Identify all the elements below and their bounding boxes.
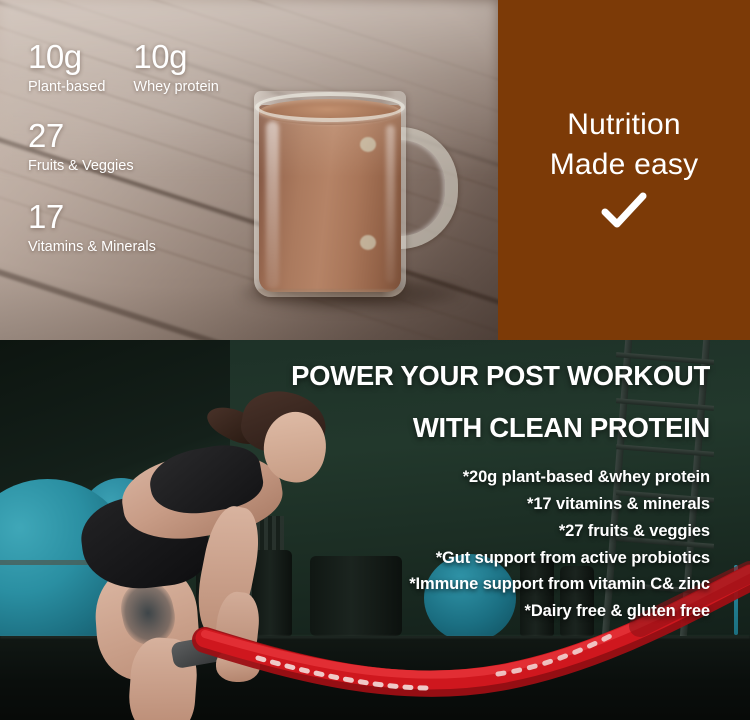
panel-title-line1: Nutrition xyxy=(567,105,681,145)
headline-line1: POWER YOUR POST WORKOUT xyxy=(0,360,710,392)
check-icon xyxy=(601,192,647,235)
nutrition-stats: 10g Plant-based 10g Whey protein 27 Frui… xyxy=(28,40,308,256)
stat-value: 10g xyxy=(133,40,218,75)
stat-item: 17 Vitamins & Minerals xyxy=(28,200,308,257)
stat-label: Vitamins & Minerals xyxy=(28,238,308,257)
stat-value: 10g xyxy=(28,40,105,75)
stat-item: 10g Plant-based xyxy=(28,40,105,97)
headline-line2: WITH CLEAN PROTEIN xyxy=(0,412,710,444)
benefit-item: *Gut support from active probiotics xyxy=(0,545,710,572)
stat-label: Fruits & Veggies xyxy=(28,157,308,176)
stat-label: Plant-based xyxy=(28,78,105,97)
nutrition-panel: Nutrition Made easy xyxy=(498,0,750,340)
benefit-item: *17 vitamins & minerals xyxy=(0,491,710,518)
top-section: 10g Plant-based 10g Whey protein 27 Frui… xyxy=(0,0,750,340)
bottom-copy: POWER YOUR POST WORKOUT WITH CLEAN PROTE… xyxy=(0,340,750,720)
benefit-item: *Dairy free & gluten free xyxy=(0,598,710,625)
stat-value: 17 xyxy=(28,200,308,235)
stat-value: 27 xyxy=(28,119,308,154)
stat-label: Whey protein xyxy=(133,78,218,97)
stat-item: 27 Fruits & Veggies xyxy=(28,119,308,176)
benefit-list: *20g plant-based &whey protein *17 vitam… xyxy=(0,464,710,624)
panel-title-line2: Made easy xyxy=(550,145,699,185)
benefit-item: *Immune support from vitamin C& zinc xyxy=(0,571,710,598)
bottom-section: POWER YOUR POST WORKOUT WITH CLEAN PROTE… xyxy=(0,340,750,720)
stat-item: 10g Whey protein xyxy=(133,40,218,97)
benefit-item: *20g plant-based &whey protein xyxy=(0,464,710,491)
benefit-item: *27 fruits & veggies xyxy=(0,518,710,545)
infographic-page: 10g Plant-based 10g Whey protein 27 Frui… xyxy=(0,0,750,720)
